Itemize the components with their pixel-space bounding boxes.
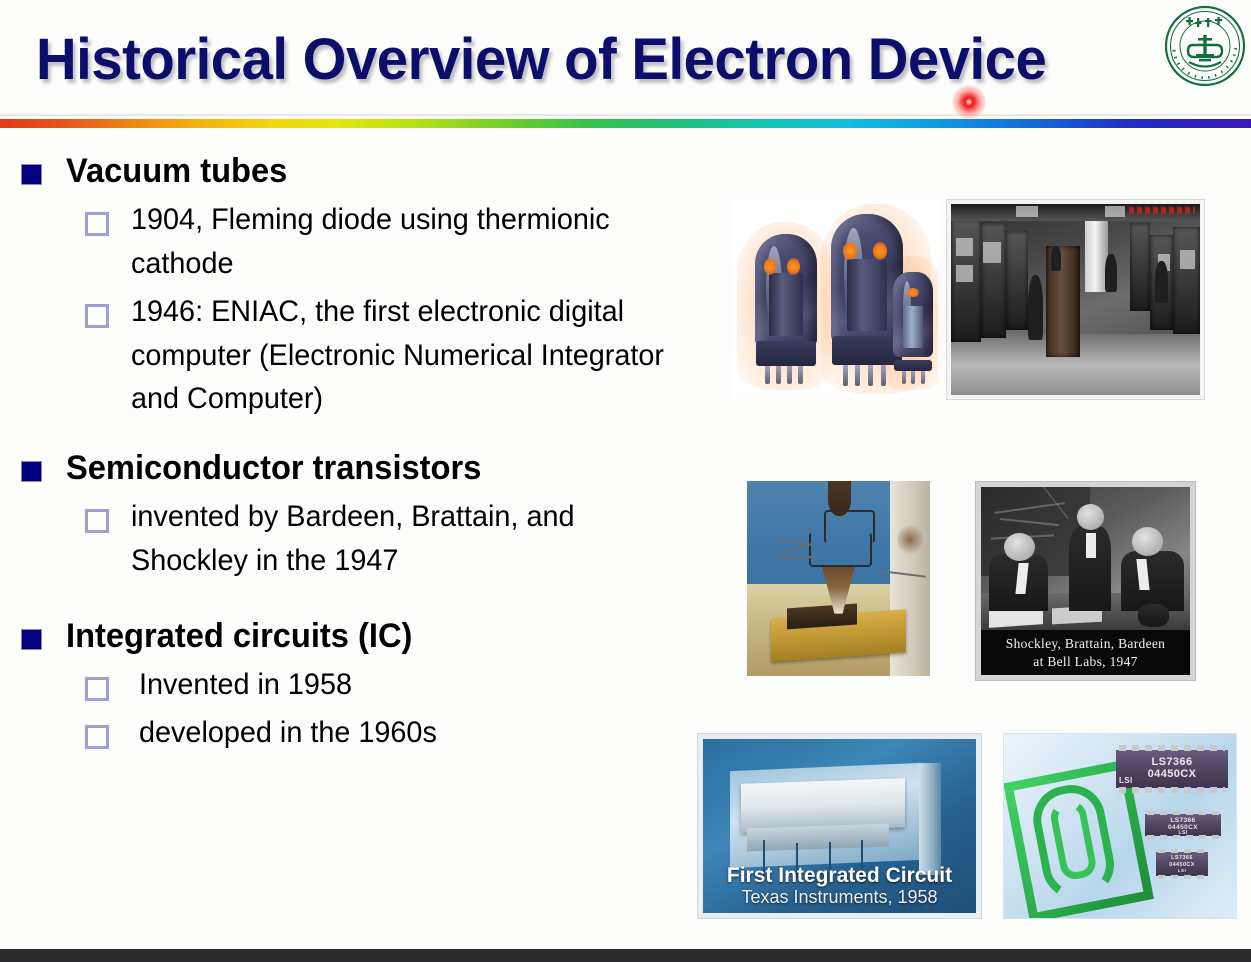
caption-line-2: Texas Instruments, 1958 bbox=[703, 887, 976, 907]
bullet-group-semiconductor-transistors: Semiconductor transistors invented by Ba… bbox=[0, 447, 700, 583]
slide-bottom-bar bbox=[0, 949, 1251, 962]
bullet-group-integrated-circuits: Integrated circuits (IC) Invented in 195… bbox=[0, 615, 700, 755]
bullet-square-filled-icon bbox=[21, 164, 42, 185]
bullet-level2: invented by Bardeen, Brattain, and Shock… bbox=[0, 495, 700, 583]
chip-label-line1: LS7366 bbox=[1116, 756, 1228, 768]
bullet-level2-label: 1946: ENIAC, the first electronic digita… bbox=[131, 290, 677, 421]
page-title: Historical Overview of Electron Device bbox=[36, 26, 1046, 93]
photo-watermark bbox=[1129, 207, 1195, 214]
chip-package-medium: LS7366 04450CX LSI bbox=[1145, 814, 1221, 836]
laser-pointer-dot bbox=[952, 85, 986, 119]
chip-label-line3: LSI bbox=[1145, 830, 1221, 836]
bullet-level1-label: Semiconductor transistors bbox=[66, 447, 481, 489]
bullet-level1: Vacuum tubes bbox=[0, 150, 700, 192]
bullet-level1-label: Integrated circuits (IC) bbox=[66, 615, 412, 657]
bullet-square-filled-icon bbox=[21, 629, 42, 650]
slide-header: Historical Overview of Electron Device bbox=[0, 0, 1251, 120]
photo-vacuum-tubes bbox=[733, 198, 938, 398]
university-logo-icon bbox=[1163, 4, 1247, 88]
title-divider bbox=[0, 114, 1251, 116]
photo-eniac-computer bbox=[946, 199, 1205, 400]
bullet-square-filled-icon bbox=[21, 461, 42, 482]
bullet-level2-label: invented by Bardeen, Brattain, and Shock… bbox=[131, 495, 677, 583]
bullet-level2-label: 1904, Fleming diode using thermionic cat… bbox=[131, 198, 677, 286]
caption-line-2: at Bell Labs, 1947 bbox=[1033, 653, 1137, 670]
bullet-level2: developed in the 1960s bbox=[0, 711, 700, 755]
rainbow-divider-bar bbox=[0, 119, 1251, 128]
bullet-level2: 1904, Fleming diode using thermionic cat… bbox=[0, 198, 700, 286]
chip-label-line1: LS7366 bbox=[1145, 817, 1221, 824]
photo-first-transistor bbox=[747, 481, 930, 676]
photo-first-integrated-circuit: First Integrated Circuit Texas Instrumen… bbox=[697, 733, 982, 919]
bullet-square-hollow-icon bbox=[85, 677, 109, 701]
bullet-level2-label: developed in the 1960s bbox=[139, 711, 437, 755]
photo-paperclip-and-chips: LS7366 04450CX LSI LS7366 04450CX LSI LS… bbox=[1003, 733, 1237, 919]
bullet-square-hollow-icon bbox=[85, 304, 109, 328]
slide: Historical Overview of Electron Device bbox=[0, 0, 1251, 962]
photo-caption-bell-labs: Shockley, Brattain, Bardeen at Bell Labs… bbox=[981, 630, 1190, 675]
bullet-level2: 1946: ENIAC, the first electronic digita… bbox=[0, 290, 700, 421]
bullet-level2-label: Invented in 1958 bbox=[139, 663, 352, 707]
bullet-level1-label: Vacuum tubes bbox=[66, 150, 287, 192]
bullet-level2: Invented in 1958 bbox=[0, 663, 700, 707]
photo-bell-labs-scientists: Shockley, Brattain, Bardeen at Bell Labs… bbox=[975, 481, 1196, 681]
chip-package-small: LS7366 04450CX LSI bbox=[1156, 852, 1208, 876]
caption-line-1: First Integrated Circuit bbox=[703, 865, 976, 887]
bullet-level1: Integrated circuits (IC) bbox=[0, 615, 700, 657]
photo-caption-first-ic: First Integrated Circuit Texas Instrumen… bbox=[703, 865, 976, 907]
caption-line-1: Shockley, Brattain, Bardeen bbox=[1006, 635, 1165, 652]
bullet-level1: Semiconductor transistors bbox=[0, 447, 700, 489]
chip-package-large: LS7366 04450CX LSI bbox=[1116, 750, 1228, 788]
bullet-square-hollow-icon bbox=[85, 725, 109, 749]
chip-label-line3: LSI bbox=[1156, 868, 1208, 873]
paperclip-icon bbox=[1003, 763, 1133, 905]
chip-label-line3: LSI bbox=[1119, 776, 1133, 785]
chip-label-line1: LS7366 bbox=[1156, 855, 1208, 861]
bullet-square-hollow-icon bbox=[85, 509, 109, 533]
bullet-square-hollow-icon bbox=[85, 212, 109, 236]
bullet-group-vacuum-tubes: Vacuum tubes 1904, Fleming diode using t… bbox=[0, 150, 700, 421]
slide-body: Vacuum tubes 1904, Fleming diode using t… bbox=[0, 150, 700, 765]
chip-label-line2: 04450CX bbox=[1116, 768, 1228, 780]
